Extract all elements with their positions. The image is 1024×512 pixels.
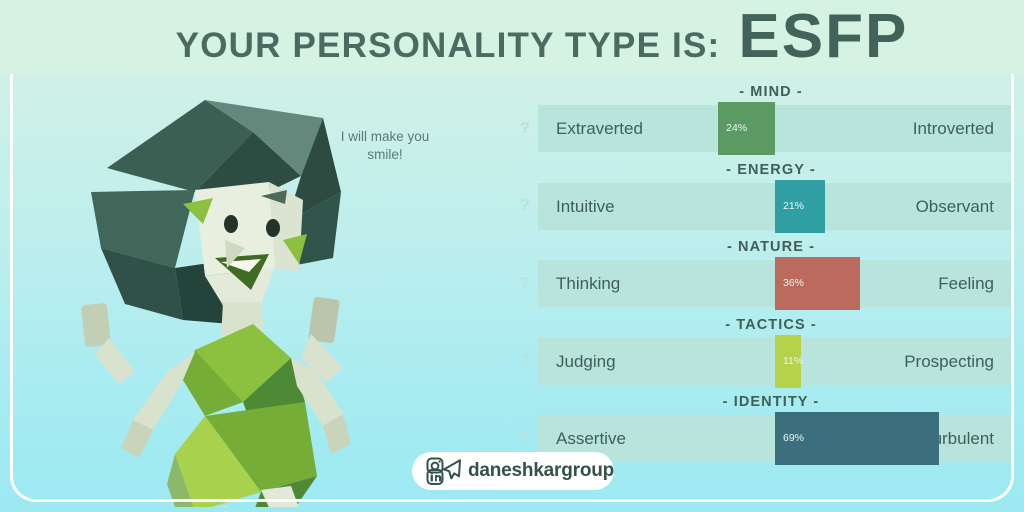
trait-right-label-tactics: Prospecting: [904, 338, 994, 385]
help-icon-energy[interactable]: ?: [512, 197, 538, 215]
trait-title-mind: - MIND -: [530, 84, 1012, 100]
trait-title-identity: - IDENTITY -: [530, 394, 1012, 410]
trait-group-nature: - NATURE - ? Thinking Feeling 36%: [512, 239, 1012, 307]
trait-percent-nature: 36%: [783, 257, 804, 310]
result-header: YOUR PERSONALITY TYPE IS: ESFP: [0, 0, 1024, 74]
trait-row-nature: ? Thinking Feeling 36%: [512, 260, 1012, 307]
brand-logo[interactable]: daneshkargroup: [412, 452, 614, 490]
trait-bar-energy[interactable]: Intuitive Observant 21%: [538, 183, 1012, 230]
trait-group-mind: - MIND - ? Extraverted Introverted 24%: [512, 84, 1012, 152]
personality-type-code: ESFP: [738, 8, 908, 67]
help-icon-nature[interactable]: ?: [512, 275, 538, 293]
trait-title-nature: - NATURE -: [530, 239, 1012, 255]
character-illustration: [55, 72, 365, 507]
trait-bar-nature[interactable]: Thinking Feeling 36%: [538, 260, 1012, 307]
trait-group-energy: - ENERGY - ? Intuitive Observant 21%: [512, 162, 1012, 230]
trait-row-tactics: ? Judging Prospecting 11%: [512, 338, 1012, 385]
trait-bar-identity[interactable]: Assertive Turbulent 69%: [538, 415, 1012, 462]
trait-fill-nature: 36%: [775, 257, 860, 310]
trait-fill-tactics: 11%: [775, 335, 801, 388]
help-icon-tactics[interactable]: ?: [512, 352, 538, 370]
trait-right-label-nature: Feeling: [938, 260, 994, 307]
speech-text: I will make you smile!: [322, 128, 448, 164]
trait-fill-energy: 21%: [775, 180, 825, 233]
telegram-icon: [444, 460, 460, 478]
trait-left-label-energy: Intuitive: [556, 183, 615, 230]
traits-panel: - MIND - ? Extraverted Introverted 24% -…: [512, 84, 1012, 472]
social-icons-group: [426, 457, 462, 485]
trait-percent-mind: 24%: [726, 102, 747, 155]
trait-fill-mind: 24%: [718, 102, 775, 155]
brand-name: daneshkargroup: [468, 460, 614, 482]
personality-result-card: I will make you smile! - MIND - ? Extrav…: [0, 0, 1024, 512]
trait-fill-identity: 69%: [775, 412, 939, 465]
trait-percent-tactics: 11%: [783, 335, 803, 388]
trait-left-label-nature: Thinking: [556, 260, 620, 307]
help-icon-mind[interactable]: ?: [512, 120, 538, 138]
trait-right-label-energy: Observant: [916, 183, 994, 230]
page-title: YOUR PERSONALITY TYPE IS:: [176, 26, 721, 66]
trait-title-tactics: - TACTICS -: [530, 317, 1012, 333]
trait-left-label-tactics: Judging: [556, 338, 616, 385]
trait-bar-tactics[interactable]: Judging Prospecting 11%: [538, 338, 1012, 385]
trait-title-energy: - ENERGY -: [530, 162, 1012, 178]
trait-row-energy: ? Intuitive Observant 21%: [512, 183, 1012, 230]
trait-group-tactics: - TACTICS - ? Judging Prospecting 11%: [512, 317, 1012, 385]
trait-right-label-mind: Introverted: [913, 105, 994, 152]
trait-bar-mind[interactable]: Extraverted Introverted 24%: [538, 105, 1012, 152]
trait-row-mind: ? Extraverted Introverted 24%: [512, 105, 1012, 152]
trait-percent-identity: 69%: [783, 412, 804, 465]
help-icon-identity[interactable]: ?: [512, 430, 538, 448]
trait-left-label-mind: Extraverted: [556, 105, 643, 152]
trait-percent-energy: 21%: [783, 180, 804, 233]
